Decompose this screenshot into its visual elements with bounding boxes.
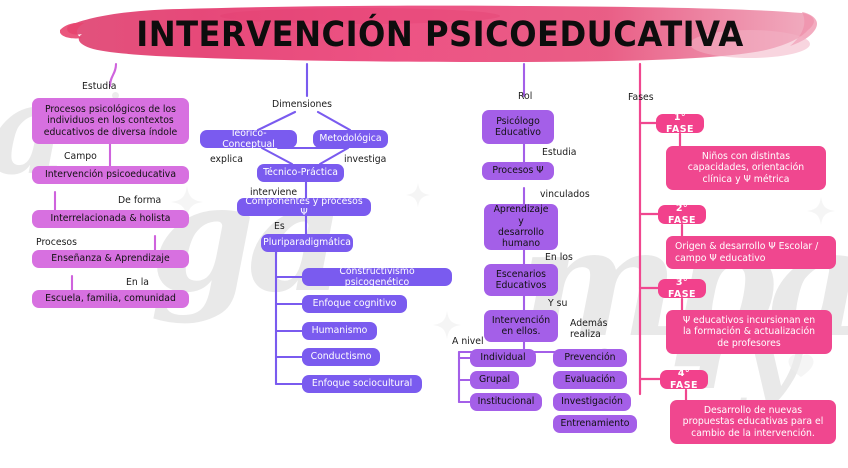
heart-icon [786, 352, 816, 378]
node-procesos-psi[interactable]: Procesos Ψ [482, 162, 554, 180]
node-fase-3-text[interactable]: Ψ educativos incursionan en la formación… [666, 310, 832, 354]
node-investigacion[interactable]: Investigación [553, 393, 631, 411]
node-prevencion[interactable]: Prevención [553, 349, 627, 367]
connector-label-rol: Rol [518, 92, 532, 102]
sparkle-icon [405, 182, 431, 208]
connector-label-campo: Campo [64, 152, 97, 162]
node-conductismo[interactable]: Conductismo [302, 348, 380, 366]
node-enfoque-sociocultural[interactable]: Enfoque sociocultural [302, 375, 422, 393]
connector-label-dimensiones: Dimensiones [272, 100, 332, 110]
connector-label-procesos: Procesos [36, 238, 77, 248]
connector-label-de-forma: De forma [118, 196, 161, 206]
connector-label-en-la: En la [126, 278, 149, 288]
node-escuela-familia-comunidad[interactable]: Escuela, familia, comunidad [32, 290, 189, 308]
connector-label-a-nivel: A nivel [452, 337, 484, 347]
page-title: INTERVENCIÓN PSICOEDUCATIVA [90, 4, 789, 66]
connector-label-en-los: En los [545, 253, 573, 263]
node-grupal[interactable]: Grupal [470, 371, 519, 389]
node-constructivismo-psicogenetico[interactable]: Constructivismo psicogenético [302, 268, 452, 286]
connector-label-ademas-realiza: Además realiza [570, 318, 607, 340]
node-enfoque-cognitivo[interactable]: Enfoque cognitivo [302, 295, 407, 313]
node-evaluacion[interactable]: Evaluación [553, 371, 627, 389]
node-intervencion-en-ellos[interactable]: Intervención en ellos. [484, 310, 558, 342]
connector-label-y-su: Y su [548, 299, 567, 309]
node-individual[interactable]: Individual [470, 349, 536, 367]
node-intervencion-psicoeducativa[interactable]: Intervención psicoeducativa [32, 166, 189, 184]
node-fase-4-text[interactable]: Desarrollo de nuevas propuestas educativ… [670, 400, 836, 444]
node-metodologica[interactable]: Metodológica [313, 130, 388, 148]
node-pluriparadigmatica[interactable]: Pluriparadigmática [261, 234, 353, 252]
node-fase-2-tag[interactable]: 2° FASE [658, 205, 706, 224]
connector-label-es: Es [274, 222, 285, 232]
mindmap-canvas: a ga mpa ry [0, 0, 848, 468]
node-entrenamiento[interactable]: Entrenamiento [553, 415, 637, 433]
node-institucional[interactable]: Institucional [470, 393, 542, 411]
node-ensenanza-aprendizaje[interactable]: Enseñanza & Aprendizaje [32, 250, 189, 268]
node-aprendizaje-desarrollo-humano[interactable]: Aprendizaje y desarrollo humano [484, 204, 558, 250]
connector-label-estudia: Estudia [82, 82, 116, 92]
sparkle-icon [806, 196, 836, 226]
connector-lines [0, 0, 848, 468]
node-tecnico-practica[interactable]: Técnico-Práctica [257, 164, 344, 182]
connector-label-explica: explica [210, 155, 243, 165]
node-interrelacionada-holista[interactable]: Interrelacionada & holista [32, 210, 189, 228]
node-procesos-psicologicos[interactable]: Procesos psicológicos de los individuos … [32, 98, 189, 144]
node-psicologo-educativo[interactable]: Psicólogo Educativo [482, 110, 554, 144]
connector-label-vinculados: vinculados [540, 190, 590, 200]
connector-label-fases: Fases [628, 93, 654, 103]
node-fase-1-tag[interactable]: 1° FASE [656, 114, 704, 133]
node-fase-2-text[interactable]: Origen & desarrollo Ψ Escolar / campo Ψ … [666, 236, 836, 269]
node-componentes-procesos[interactable]: Componentes y procesos Ψ [237, 198, 371, 216]
node-humanismo[interactable]: Humanismo [302, 322, 377, 340]
connector-label-estudia-rol: Estudia [542, 148, 576, 158]
connector-label-investiga: investiga [344, 155, 386, 165]
node-fase-4-tag[interactable]: 4° FASE [660, 370, 708, 389]
node-fase-1-text[interactable]: Niños con distintas capacidades, orienta… [666, 146, 826, 190]
node-teorico-conceptual[interactable]: Teórico-Conceptual [200, 130, 297, 148]
node-escenarios-educativos[interactable]: Escenarios Educativos [484, 264, 558, 296]
node-fase-3-tag[interactable]: 3° FASE [658, 279, 706, 298]
